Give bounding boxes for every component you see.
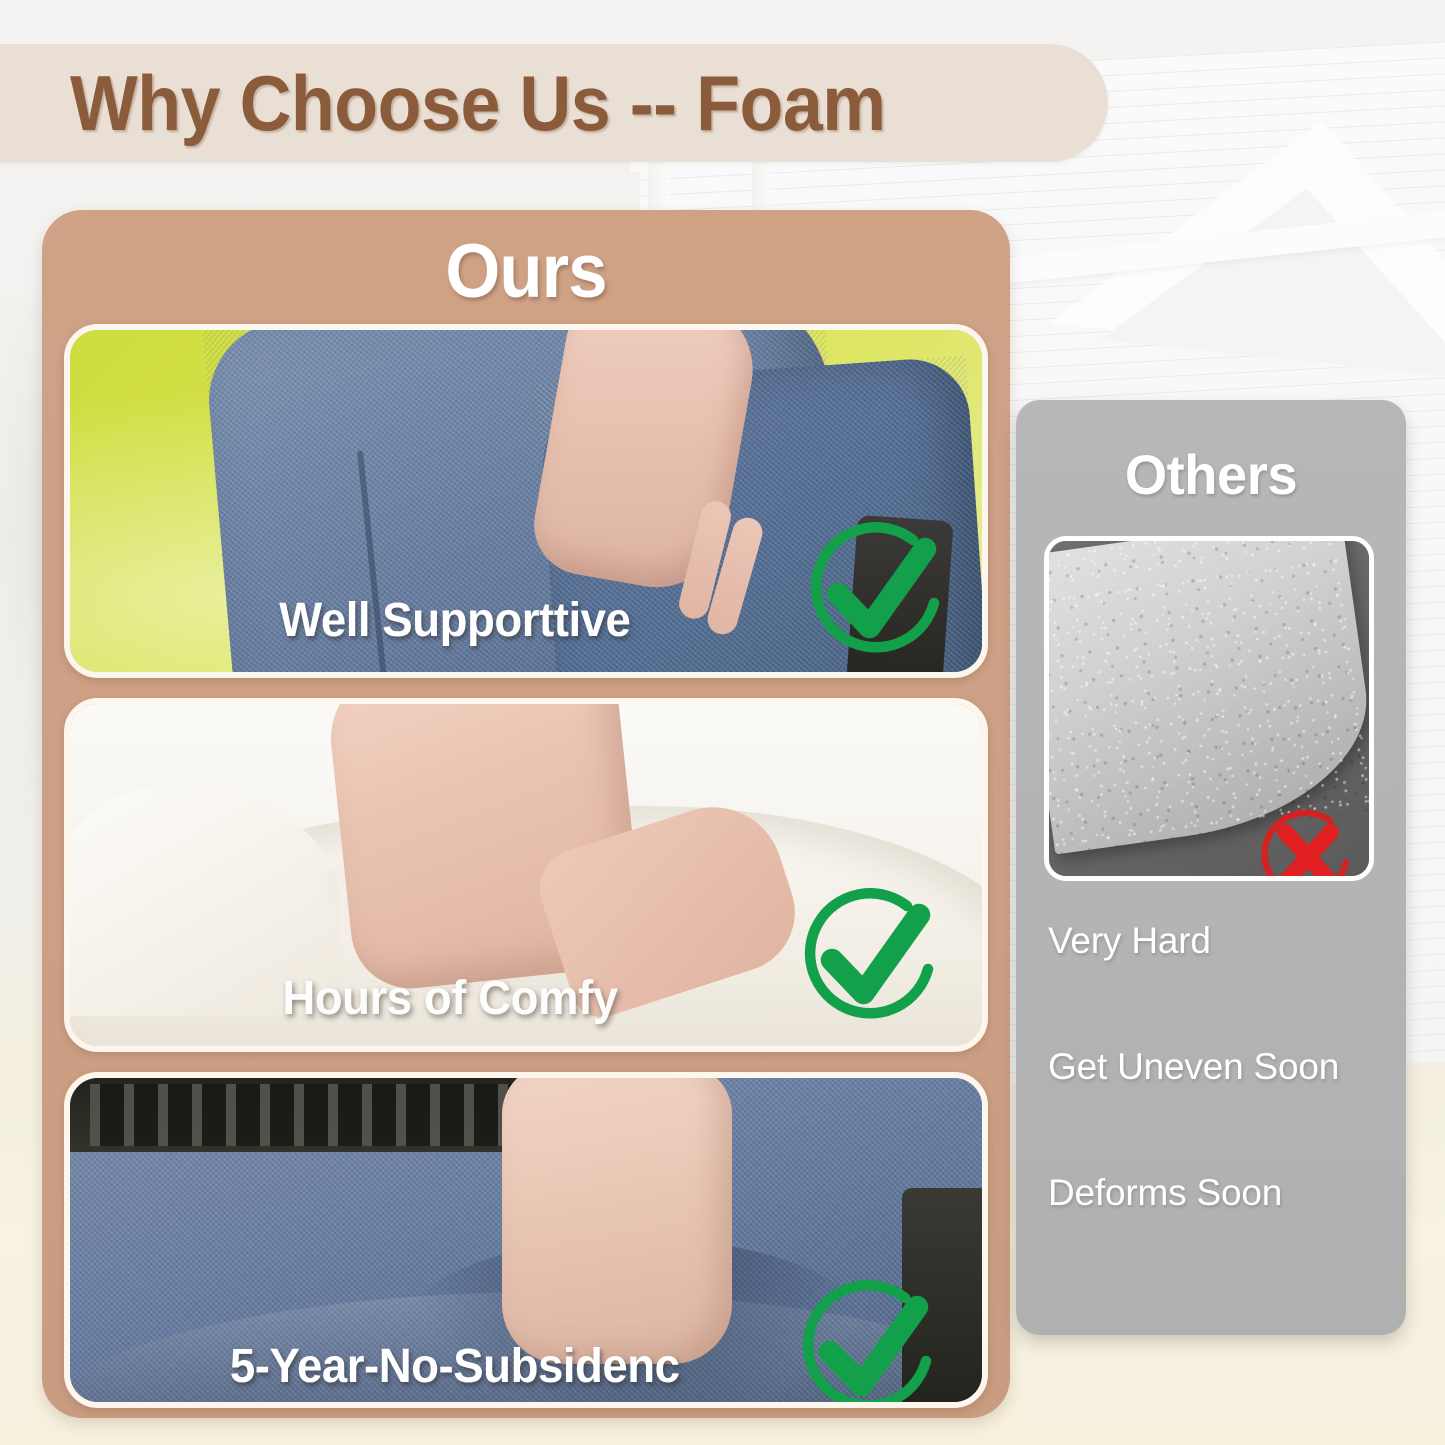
others-item-very-hard: Very Hard: [1048, 920, 1388, 962]
others-item-deforms-soon: Deforms Soon: [1048, 1172, 1388, 1214]
others-drawback-list: Very Hard Get Uneven Soon Deforms Soon: [1048, 920, 1388, 1298]
others-foam-photo: [1044, 536, 1374, 881]
others-panel-title: Others: [1022, 442, 1400, 507]
red-x-icon: [1253, 802, 1361, 881]
page-title: Why Choose Us -- Foam: [70, 58, 886, 149]
ours-panel: Ours Well Supporttive: [42, 210, 1010, 1418]
card3-chair-back: [70, 1078, 540, 1152]
card3-foot: [502, 1072, 732, 1364]
green-check-icon: [796, 882, 946, 1032]
ours-card-hours-of-comfy: Hours of Comfy: [64, 698, 988, 1052]
ours-card-well-supportive: Well Supporttive: [64, 324, 988, 678]
others-panel: Others Very Hard Get Uneven Soon Deforms…: [1016, 400, 1406, 1335]
infographic-canvas: Why Choose Us -- Foam Ours Well Supportt…: [0, 0, 1445, 1445]
ours-card-no-subsidence: 5-Year-No-Subsidenc: [64, 1072, 988, 1408]
green-check-icon: [802, 516, 952, 666]
green-check-icon: [794, 1274, 944, 1408]
ours-panel-title: Ours: [76, 228, 976, 315]
card3-chair-slats: [90, 1084, 520, 1146]
header-banner: Why Choose Us -- Foam: [0, 44, 1108, 162]
others-item-get-uneven-soon: Get Uneven Soon: [1048, 1046, 1388, 1088]
